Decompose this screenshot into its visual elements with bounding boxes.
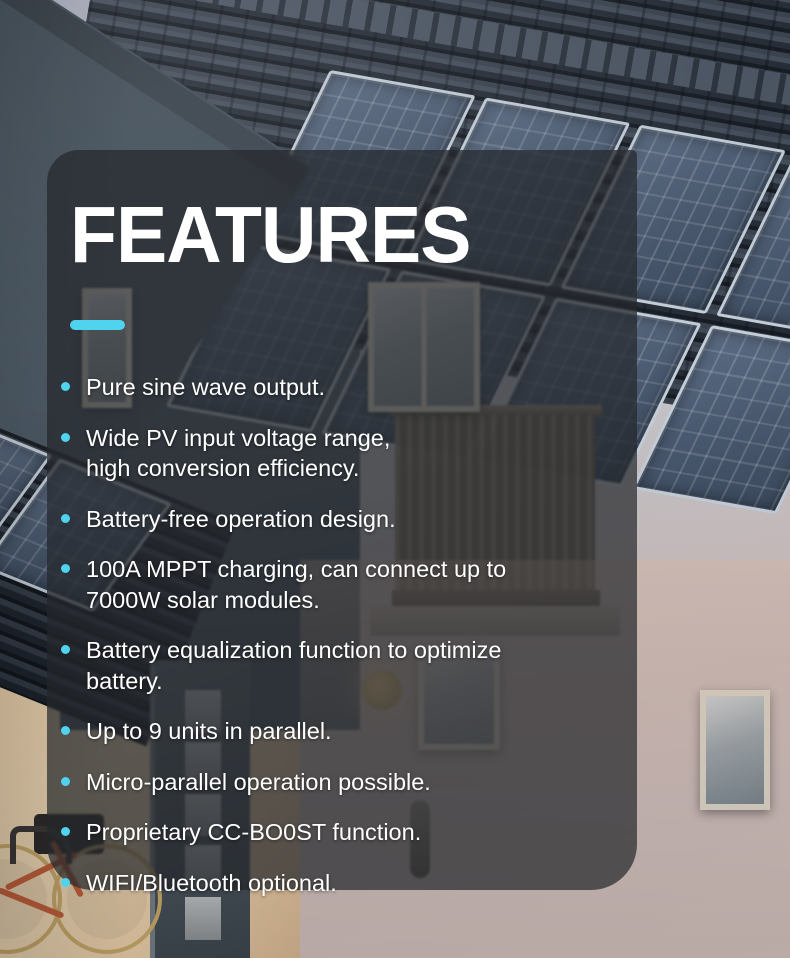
list-item: Battery-free operation design.	[61, 504, 623, 535]
title-accent-bar	[70, 320, 125, 330]
feature-text: 100A MPPT charging, can connect up to 70…	[86, 554, 623, 615]
feature-text: Up to 9 units in parallel.	[86, 716, 623, 747]
feature-text: WIFI/Bluetooth optional.	[86, 868, 623, 899]
bullet-dot-icon	[61, 564, 70, 573]
bullet-dot-icon	[61, 514, 70, 523]
feature-banner: FEATURES Pure sine wave output. Wide PV …	[0, 0, 790, 958]
features-card: FEATURES Pure sine wave output. Wide PV …	[47, 150, 637, 890]
list-item: Micro-parallel operation possible.	[61, 767, 623, 798]
bullet-dot-icon	[61, 382, 70, 391]
feature-text: Battery-free operation design.	[86, 504, 623, 535]
bullet-dot-icon	[61, 433, 70, 442]
list-item: Proprietary CC-BO0ST function.	[61, 817, 623, 848]
feature-text: Proprietary CC-BO0ST function.	[86, 817, 623, 848]
bullet-dot-icon	[61, 726, 70, 735]
list-item: 100A MPPT charging, can connect up to 70…	[61, 554, 623, 615]
bullet-dot-icon	[61, 645, 70, 654]
feature-text: Battery equalization function to optimiz…	[86, 635, 623, 696]
feature-text: Micro-parallel operation possible.	[86, 767, 623, 798]
list-item: Up to 9 units in parallel.	[61, 716, 623, 747]
list-item: Pure sine wave output.	[61, 372, 623, 403]
feature-text: Pure sine wave output.	[86, 372, 623, 403]
list-item: Wide PV input voltage range, high conver…	[61, 423, 623, 484]
list-item: WIFI/Bluetooth optional.	[61, 868, 623, 899]
bullet-dot-icon	[61, 878, 70, 887]
bullet-dot-icon	[61, 827, 70, 836]
bullet-dot-icon	[61, 777, 70, 786]
page-title: FEATURES	[70, 195, 471, 275]
list-item: Battery equalization function to optimiz…	[61, 635, 623, 696]
feature-text: Wide PV input voltage range, high conver…	[86, 423, 623, 484]
feature-list: Pure sine wave output. Wide PV input vol…	[61, 372, 623, 919]
